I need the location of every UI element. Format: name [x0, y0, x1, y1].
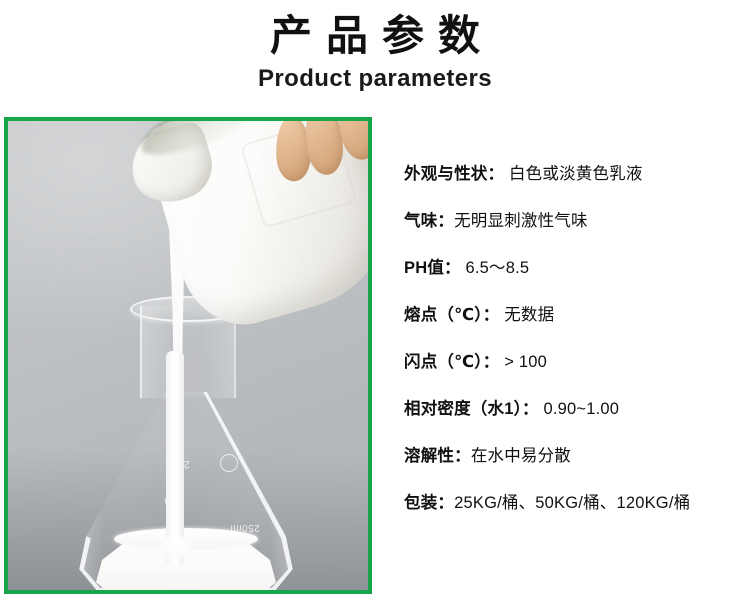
parameter-row-melting-point: 熔点（℃）： 无数据	[404, 303, 746, 350]
parameter-label: 包装：	[404, 494, 454, 512]
parameter-value: > 100	[499, 353, 547, 371]
parameter-row-odor: 气味：无明显刺激性气味	[404, 209, 746, 256]
parameter-value: 白色或淡黄色乳液	[504, 165, 642, 183]
parameter-label: 相对密度（水1）：	[404, 400, 539, 418]
parameter-row-flash-point: 闪点（℃）： > 100	[404, 350, 746, 397]
page-title-en: Product parameters	[0, 64, 750, 94]
pouring-stream-lower	[166, 351, 184, 566]
parameter-value: 6.5～8.5	[461, 259, 530, 277]
parameter-value: 0.90~1.00	[539, 400, 619, 418]
parameter-value: 在水中易分散	[471, 447, 571, 465]
parameter-row-ph: PH值： 6.5～8.5	[404, 256, 746, 303]
parameter-row-appearance: 外观与性状： 白色或淡黄色乳液	[404, 162, 746, 209]
flask-brand-icon	[220, 454, 238, 472]
parameter-label: 闪点（℃）：	[404, 353, 499, 371]
parameter-label: 熔点（℃）：	[404, 306, 499, 324]
hand-holding-bottle	[266, 121, 368, 213]
page-title-cn: 产品参数	[0, 10, 750, 62]
parameter-label: 外观与性状：	[404, 165, 504, 183]
page-header: 产品参数 Product parameters	[0, 0, 750, 110]
parameter-row-relative-density: 相对密度（水1）： 0.90~1.00	[404, 397, 746, 444]
parameter-label: 溶解性：	[404, 447, 471, 465]
parameter-row-solubility: 溶解性：在水中易分散	[404, 444, 746, 491]
parameter-value: 25KG/桶、50KG/桶、120KG/桶	[454, 494, 690, 512]
parameter-value: 无数据	[499, 306, 554, 324]
parameter-label: PH值：	[404, 259, 461, 277]
product-photo-inner: 250 200 150 250ml	[8, 121, 368, 590]
flask-capacity-label: 250ml	[230, 522, 260, 533]
product-photo: 250 200 150 250ml	[4, 117, 372, 594]
parameter-row-packaging: 包装：25KG/桶、50KG/桶、120KG/桶	[404, 491, 746, 538]
parameter-value: 无明显刺激性气味	[454, 212, 588, 230]
parameter-label: 气味：	[404, 212, 454, 230]
pouring-stream-splash	[158, 536, 194, 562]
parameter-list: 外观与性状： 白色或淡黄色乳液 气味：无明显刺激性气味 PH值： 6.5～8.5…	[404, 162, 746, 538]
